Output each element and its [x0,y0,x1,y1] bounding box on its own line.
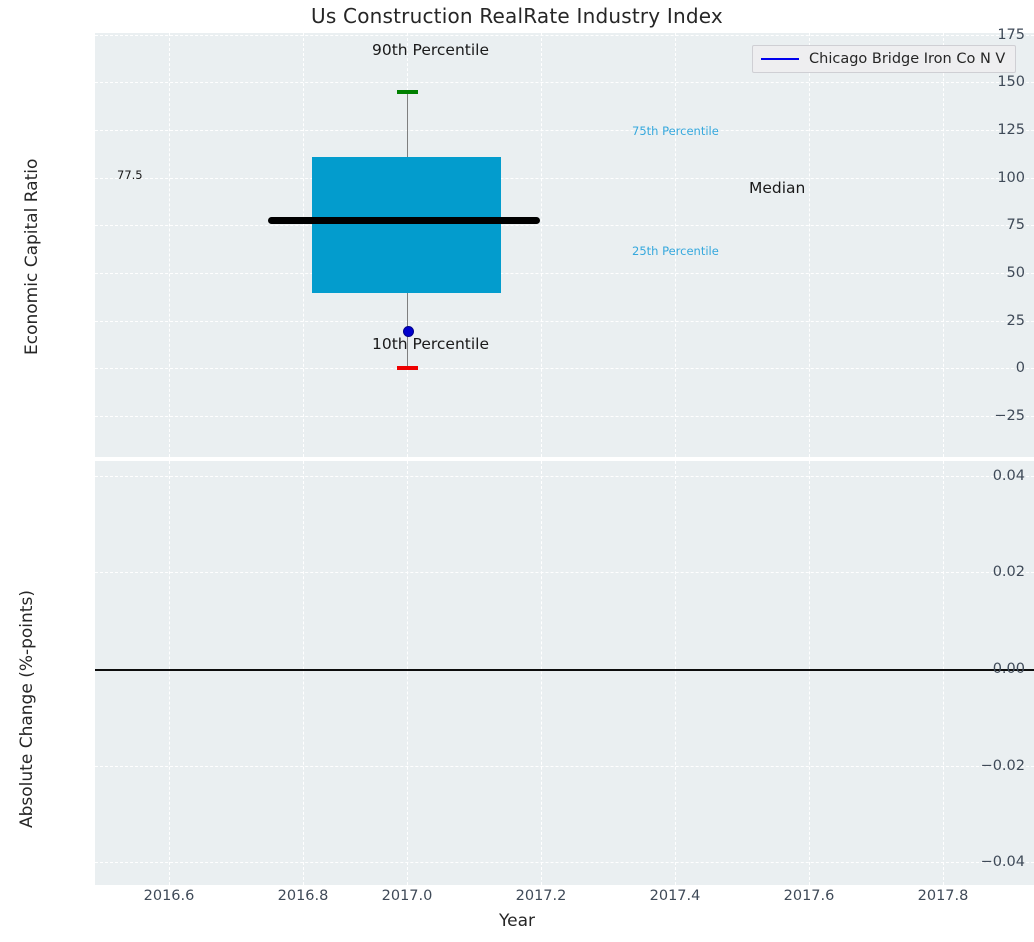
whisker-cap-90th-percentile [397,90,418,94]
chart-figure: Us Construction RealRate Industry Index … [0,0,1034,942]
annotation-25th-percentile: 25th Percentile [632,244,719,258]
ytick-top: 175 [950,27,1034,43]
gridline-vertical [303,461,304,885]
gridline-horizontal [95,862,1034,863]
gridline-horizontal [95,35,1034,36]
y-axis-label-top: Economic Capital Ratio [22,159,42,355]
annotation-median: Median [749,179,805,197]
chart-title: Us Construction RealRate Industry Index [0,4,1034,28]
ytick-bottom: −0.02 [950,758,1034,774]
ytick-bottom: −0.04 [950,854,1034,870]
gridline-vertical [943,461,944,885]
legend-entry-label: Chicago Bridge Iron Co N V [809,51,1005,67]
gridline-vertical [809,461,810,885]
gridline-vertical [809,33,810,457]
gridline-horizontal [95,572,1034,573]
xtick: 2017.2 [496,888,586,904]
x-axis-label: Year [0,911,1034,931]
xtick: 2016.8 [258,888,348,904]
ytick-top: 150 [950,74,1034,90]
gridline-horizontal [95,416,1034,417]
y-axis-label-bottom: Absolute Change (%-points) [17,590,37,828]
gridline-vertical [169,461,170,885]
gridline-horizontal [95,476,1034,477]
plot-panel-absolute-change [95,461,1034,885]
gridline-vertical [541,33,542,457]
xtick: 2017.6 [764,888,854,904]
annotation-90th-percentile: 90th Percentile [372,41,489,59]
gridline-horizontal [95,273,1034,274]
xtick: 2017.4 [630,888,720,904]
annotation-75th-percentile: 75th Percentile [632,124,719,138]
median-line [268,217,540,224]
legend[interactable]: Chicago Bridge Iron Co N V [752,45,1016,73]
gridline-horizontal [95,82,1034,83]
gridline-horizontal [95,225,1034,226]
zero-reference-line [95,669,1034,671]
whisker-cap-10th-percentile [397,366,418,370]
annotation-10th-percentile: 10th Percentile [372,335,489,353]
gridline-vertical [675,461,676,885]
legend-line-swatch [761,58,799,60]
ytick-top: 100 [950,170,1034,186]
gridline-horizontal [95,130,1034,131]
annotation-median-value: 77.5 [117,168,143,182]
plot-panel-economic-capital-ratio [95,33,1034,457]
xtick: 2016.6 [124,888,214,904]
gridline-horizontal [95,178,1034,179]
gridline-vertical [303,33,304,457]
ytick-top: 25 [950,313,1034,329]
ytick-bottom: 0.00 [950,661,1034,677]
ytick-top: 125 [950,122,1034,138]
ytick-bottom: 0.02 [950,564,1034,580]
box-interquartile-range [312,157,501,293]
gridline-vertical [169,33,170,457]
ytick-bottom: 0.04 [950,468,1034,484]
gridline-vertical [541,461,542,885]
gridline-horizontal [95,368,1034,369]
gridline-vertical [407,461,408,885]
gridline-horizontal [95,766,1034,767]
ytick-top: 75 [950,217,1034,233]
ytick-top: 50 [950,265,1034,281]
ytick-top: 0 [950,360,1034,376]
xtick: 2017.8 [898,888,988,904]
gridline-vertical [943,33,944,457]
ytick-top: −25 [950,408,1034,424]
gridline-horizontal [95,321,1034,322]
xtick: 2017.0 [362,888,452,904]
